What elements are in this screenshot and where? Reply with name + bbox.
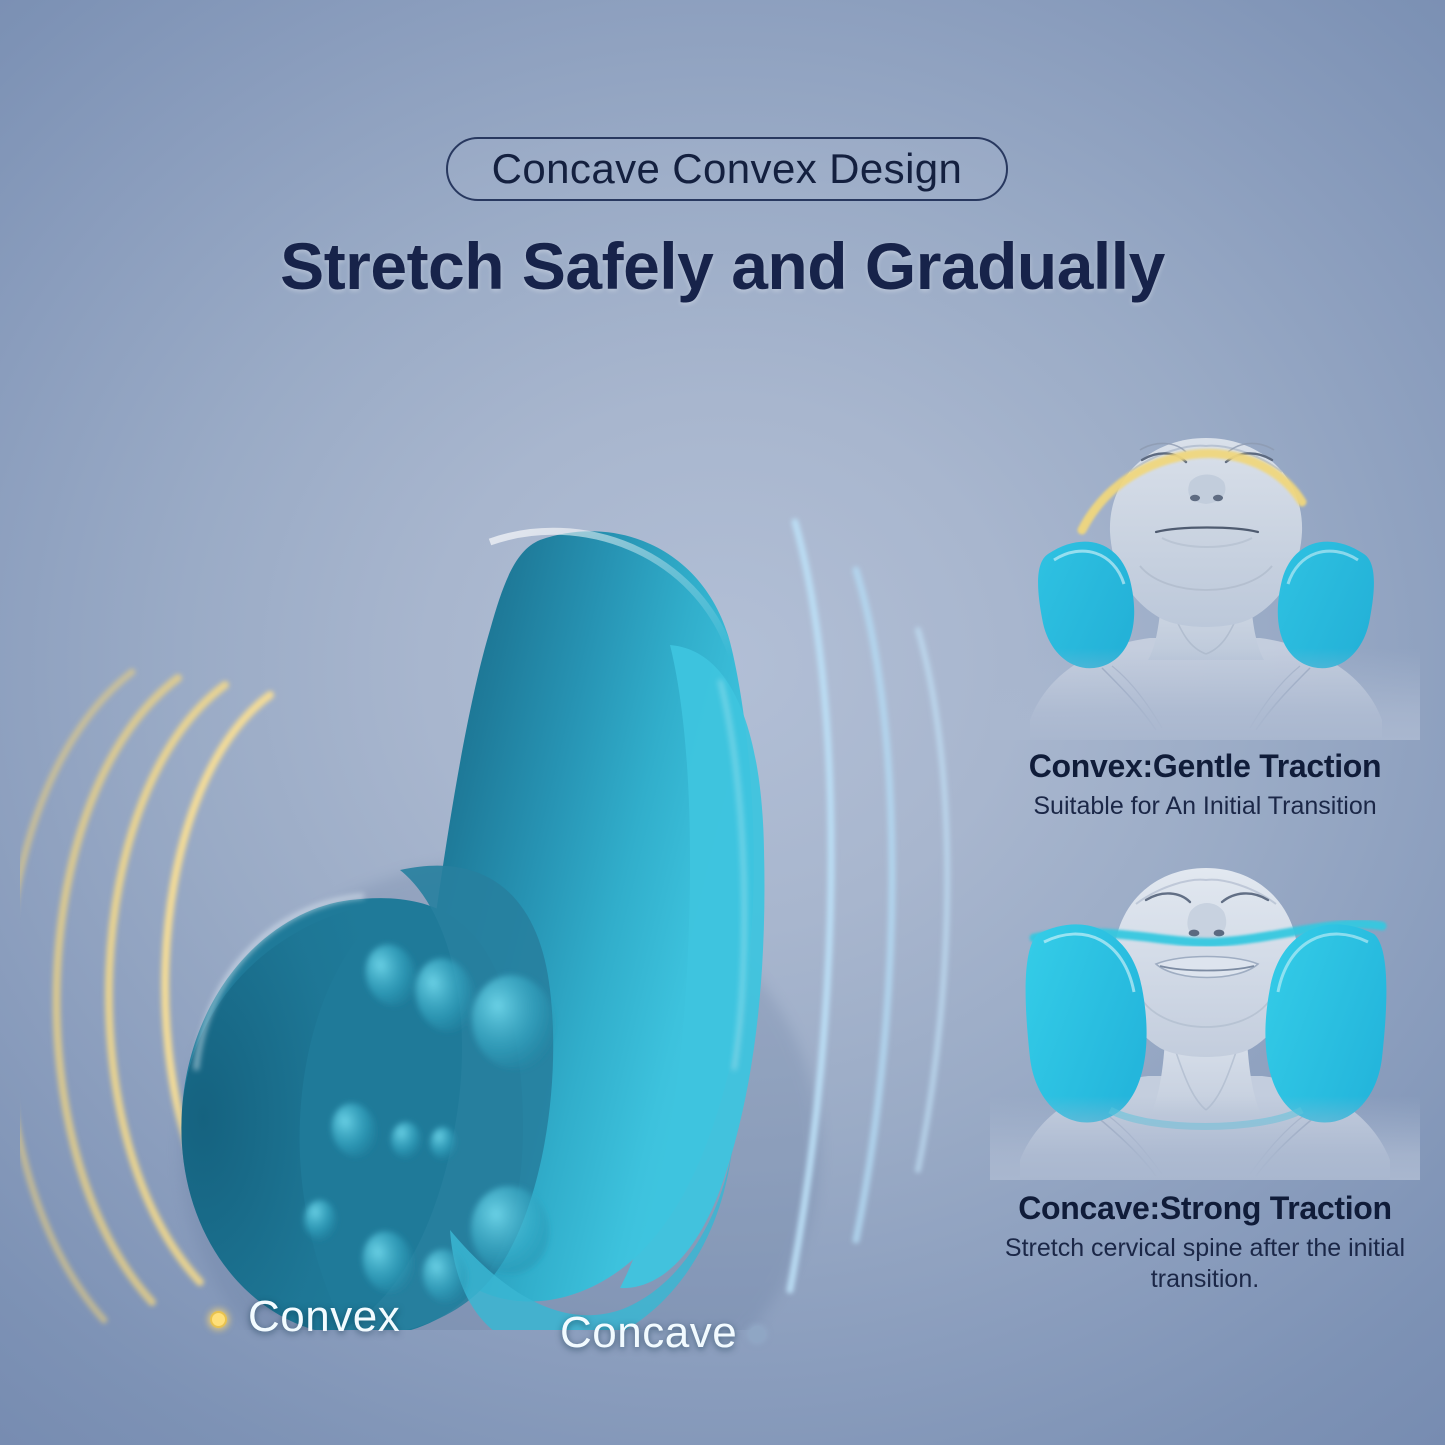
page-title: Stretch Safely and Gradually bbox=[0, 228, 1445, 304]
blue-dot-icon bbox=[749, 1326, 765, 1342]
panel-title: Concave:Strong Traction bbox=[990, 1190, 1420, 1227]
pillow-right bbox=[1265, 924, 1386, 1122]
head-neck-convex-traction-icon bbox=[990, 420, 1420, 740]
concave-label: Concave bbox=[560, 1308, 737, 1358]
yellow-dot-icon bbox=[210, 1311, 227, 1328]
design-badge-label: Concave Convex Design bbox=[492, 145, 963, 193]
panel-concave-traction: Concave:Strong Traction Stretch cervical… bbox=[990, 860, 1420, 1295]
convex-traction-illustration bbox=[990, 420, 1420, 740]
head-neck-concave-traction-icon bbox=[990, 860, 1420, 1180]
pillow-left bbox=[1026, 924, 1147, 1122]
convex-label: Convex bbox=[248, 1292, 400, 1342]
product-stage: Convex Concave bbox=[20, 430, 980, 1330]
panel-subtitle: Stretch cervical spine after the initial… bbox=[990, 1233, 1420, 1295]
panel-convex-traction: Convex:Gentle Traction Suitable for An I… bbox=[990, 420, 1420, 822]
neck-stretcher-illustration bbox=[20, 430, 980, 1330]
design-badge: Concave Convex Design bbox=[446, 137, 1008, 201]
panel-title: Convex:Gentle Traction bbox=[990, 748, 1420, 785]
panel-subtitle: Suitable for An Initial Transition bbox=[990, 791, 1420, 822]
product-feature-image: Concave Convex Design Stretch Safely and… bbox=[0, 0, 1445, 1445]
concave-traction-illustration bbox=[990, 860, 1420, 1180]
